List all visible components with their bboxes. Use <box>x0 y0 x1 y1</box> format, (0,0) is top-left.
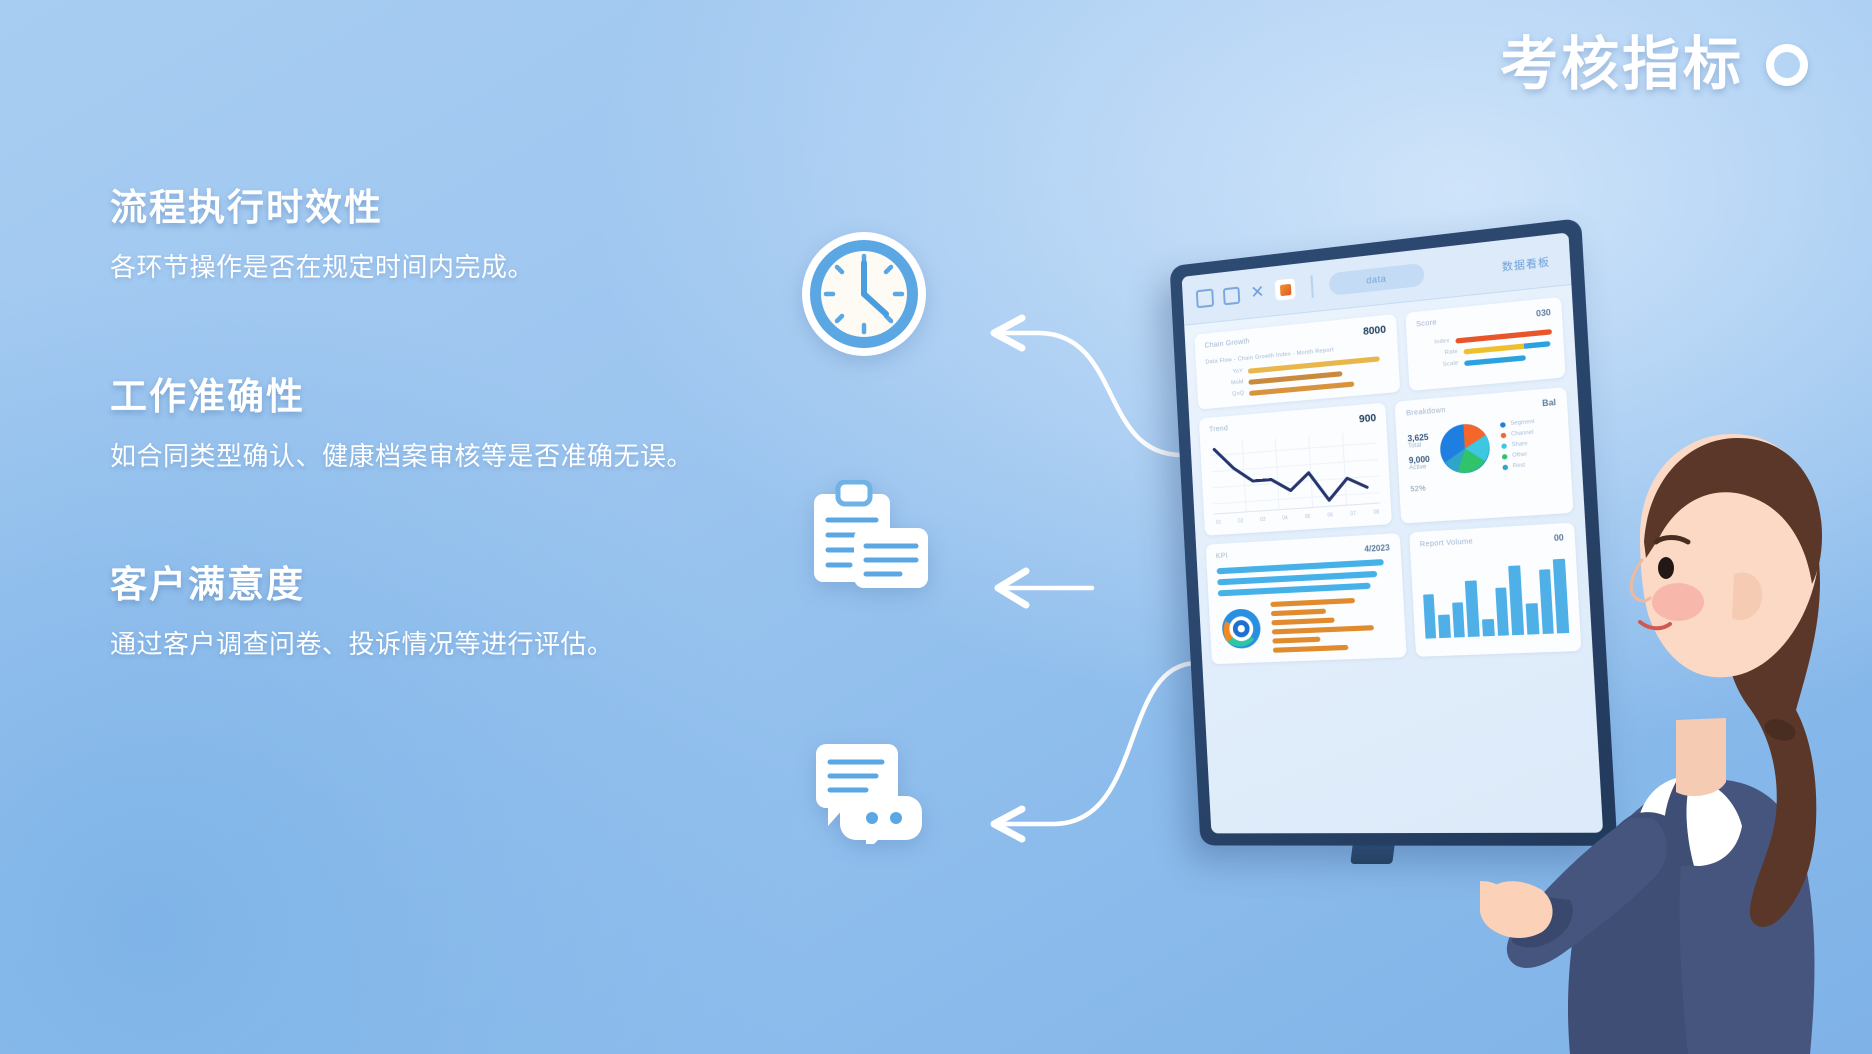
bar-label: QoQ <box>1207 390 1244 399</box>
arrow-to-timeliness <box>994 318 1182 455</box>
card-title: Breakdown <box>1406 407 1446 418</box>
metric-description: 如合同类型确认、健康档案审核等是否准确无误。 <box>110 436 700 476</box>
circle-outline-icon <box>1766 44 1808 86</box>
card-title: Report Volume <box>1420 538 1474 548</box>
card-title: Chain Growth <box>1204 338 1249 350</box>
stat: 9,000 Active <box>1408 454 1430 471</box>
bar <box>1438 615 1451 638</box>
bar-fill <box>1272 637 1320 644</box>
card-title: KPI <box>1216 553 1228 561</box>
tick: 05 <box>1305 514 1311 520</box>
metric-item-accuracy: 工作准确性 如合同类型确认、健康档案审核等是否准确无误。 <box>110 374 790 477</box>
donut-chart <box>1219 605 1264 651</box>
tick: 08 <box>1373 509 1379 516</box>
arrow-to-accuracy <box>998 571 1092 605</box>
bar-fill <box>1273 645 1348 653</box>
blue-bar-list <box>1217 559 1392 597</box>
bar <box>1452 602 1465 637</box>
close-icon[interactable]: ✕ <box>1249 284 1266 302</box>
bar-fill <box>1218 583 1371 597</box>
card-value: 8000 <box>1363 324 1387 338</box>
chat-bubbles-icon <box>810 740 928 849</box>
bar-label: YoY <box>1206 368 1243 378</box>
tick: 07 <box>1350 511 1356 518</box>
line-chart <box>1210 430 1381 518</box>
metric-title: 流程执行时效性 <box>110 185 790 231</box>
metric-item-satisfaction: 客户满意度 通过客户调查问卷、投诉情况等进行评估。 <box>110 562 790 665</box>
metric-description: 通过客户调查问卷、投诉情况等进行评估。 <box>110 624 700 664</box>
trend-card[interactable]: Trend 900 <box>1199 403 1393 536</box>
clock-icon <box>800 230 928 363</box>
presenter-illustration <box>1480 330 1872 1054</box>
bar-fill <box>1271 609 1327 617</box>
orange-bar-list <box>1270 596 1395 653</box>
tick: 03 <box>1260 517 1266 523</box>
infographic-canvas: 考核指标 流程执行时效性 各环节操作是否在规定时间内完成。 工作准确性 如合同类… <box>0 0 1872 1054</box>
metric-title: 工作准确性 <box>110 374 790 420</box>
growth-card[interactable]: Chain Growth 8000 Data Flow - Chain Grow… <box>1194 314 1400 410</box>
panel-icon[interactable] <box>1223 286 1240 305</box>
bar-label: MoM <box>1207 379 1244 388</box>
stat-label: Active <box>1409 464 1426 472</box>
metric-item-timeliness: 流程执行时效性 各环节操作是否在规定时间内完成。 <box>110 185 790 288</box>
bar <box>1423 594 1437 638</box>
kpi-card[interactable]: KPI 4/2023 <box>1206 533 1407 664</box>
donut-area <box>1219 596 1396 655</box>
metric-list: 流程执行时效性 各环节操作是否在规定时间内完成。 工作准确性 如合同类型确认、健… <box>110 185 790 665</box>
arrow-to-satisfaction <box>994 663 1196 839</box>
card-value: 900 <box>1359 413 1377 426</box>
page-title-text: 考核指标 <box>1500 36 1744 94</box>
bar-fill <box>1270 598 1355 607</box>
bar-fill <box>1272 625 1374 634</box>
stat-label: Total <box>1408 443 1422 450</box>
search-input[interactable]: data <box>1329 263 1425 296</box>
toolbar-divider <box>1311 275 1314 298</box>
tick: 02 <box>1238 518 1244 524</box>
card-title: Trend <box>1209 425 1228 434</box>
metric-title: 客户满意度 <box>110 562 790 608</box>
stat: 3,625 Total <box>1407 433 1429 450</box>
tick: 01 <box>1216 520 1222 526</box>
card-value: 030 <box>1536 308 1551 319</box>
page-title: 考核指标 <box>1500 36 1808 94</box>
app-badge-icon[interactable] <box>1275 278 1296 301</box>
bar <box>1465 580 1480 637</box>
document-clipboard-icon <box>810 480 932 597</box>
metric-description: 各环节操作是否在规定时间内完成。 <box>110 247 700 287</box>
card-value: 4/2023 <box>1364 543 1390 554</box>
dashboard-label: 数据看板 <box>1501 252 1554 274</box>
card-title: Score <box>1416 319 1437 328</box>
grid-icon[interactable] <box>1196 288 1214 308</box>
bar-fill <box>1271 617 1334 625</box>
bar-label: Rate <box>1418 349 1458 359</box>
tick: 06 <box>1327 512 1333 519</box>
bar-label: Index <box>1417 338 1450 347</box>
bar-label: Scale <box>1418 360 1458 370</box>
tick: 04 <box>1282 515 1288 521</box>
pie-stats: 3,625 Total 9,000 Active <box>1407 433 1430 472</box>
